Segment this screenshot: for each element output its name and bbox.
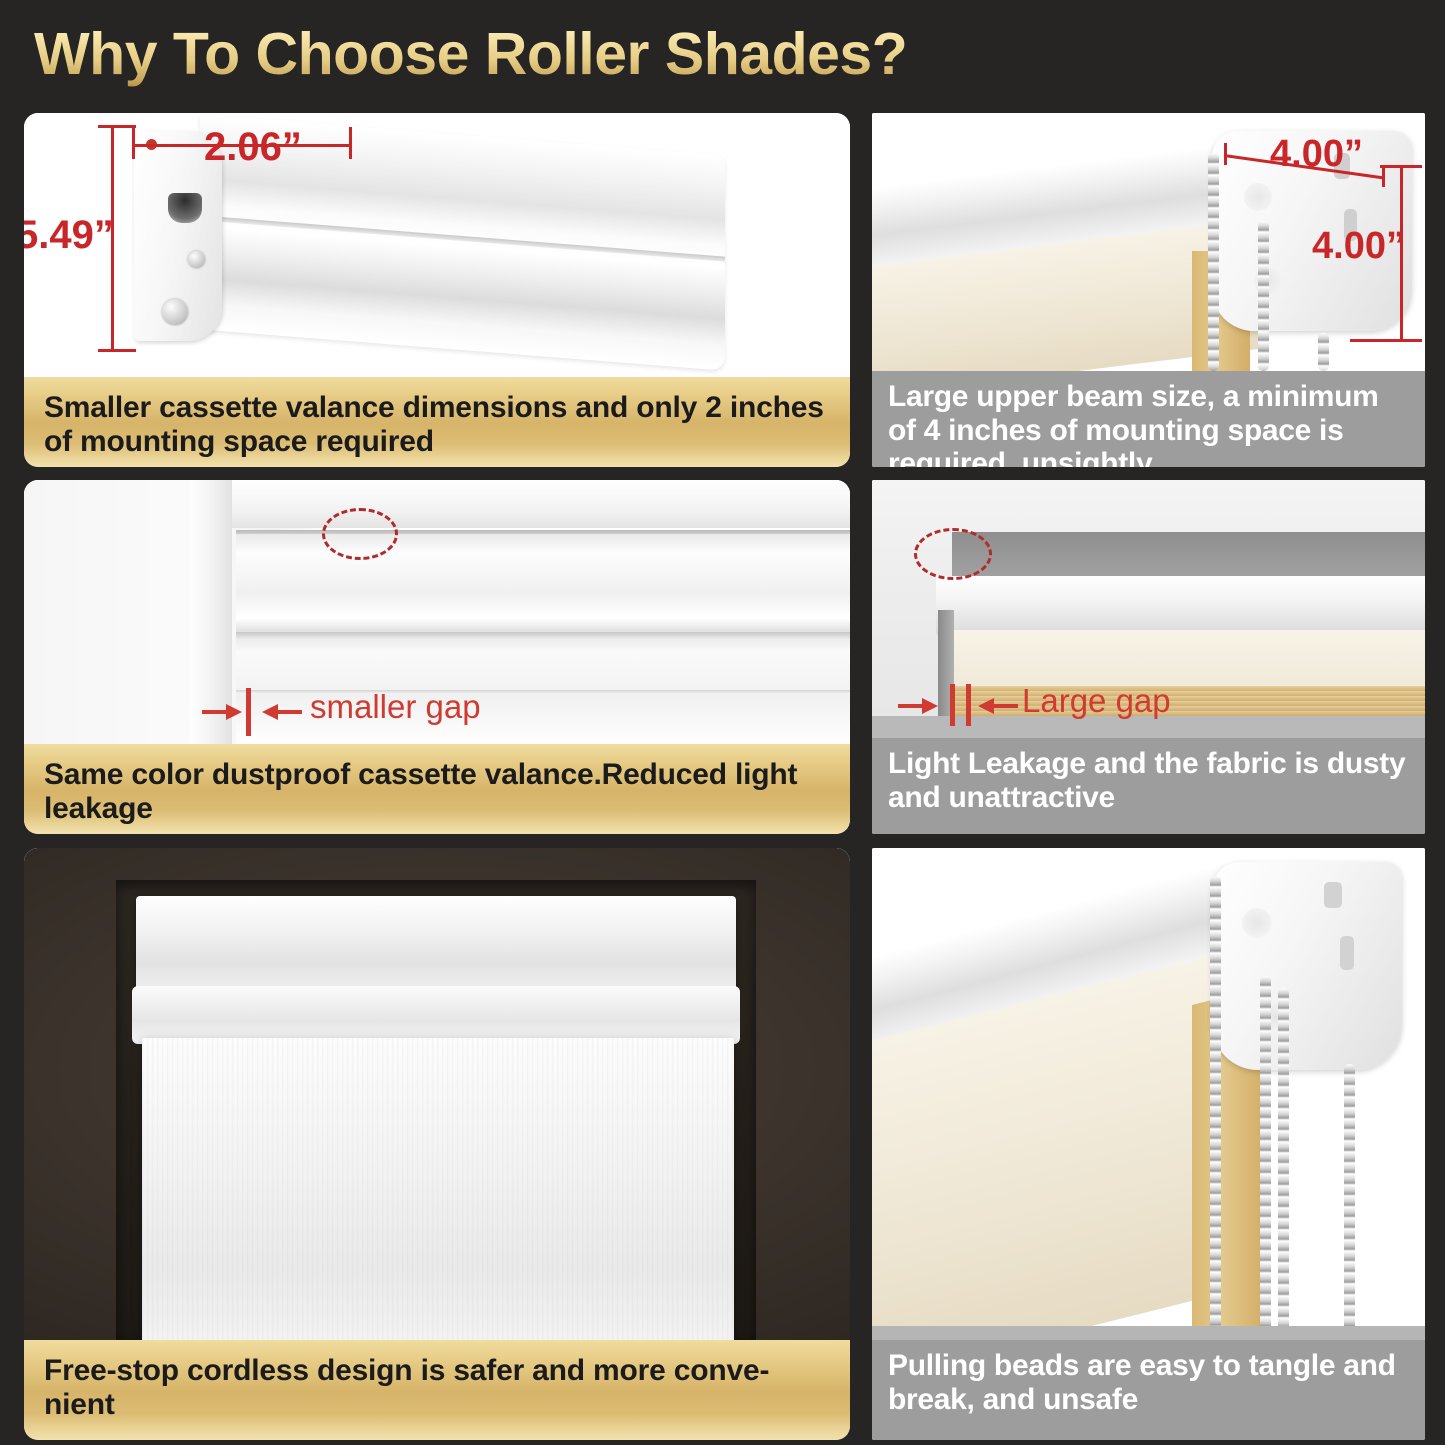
roller-tube [936, 576, 1425, 638]
panel-6-image [872, 848, 1425, 1340]
window-frame-top [190, 480, 850, 528]
panel-6-caption-bar: Pulling beads are easy to tangle and bre… [872, 1340, 1425, 1440]
bead-chain [1318, 333, 1329, 371]
gap-arrow-right-icon [260, 702, 302, 722]
panel-1-caption-bar: Smaller cassette valance dimensions and … [24, 377, 850, 467]
panel-pro-cassette-size: 2.06” 5.49” Smaller cassette valance dim… [24, 113, 850, 467]
panel-con-beam-size: 4.00” 4.00” Large upper beam size, a min… [872, 113, 1425, 467]
panel-4-caption-bar: Light Leakage and the fabric is dusty an… [872, 738, 1425, 834]
width-dimension-label: 2.06” [204, 125, 302, 170]
width-dimension-tick-right [349, 127, 352, 159]
large-gap-label: Large gap [1022, 682, 1171, 720]
bracket-keyhole-b [1340, 936, 1354, 970]
bead-chain [1210, 876, 1221, 1338]
roller-bracket [1212, 862, 1402, 1070]
infographic-root: Why To Choose Roller Shades? 2.06” [0, 0, 1445, 1445]
beam-width-tick-left [1224, 143, 1227, 165]
bead-chain [1260, 976, 1271, 1338]
panel-3-caption-text: Same color dustproof cassette valance.Re… [44, 758, 830, 825]
bracket-logo-icon [1242, 908, 1272, 938]
bead-chain [1258, 221, 1269, 371]
panel-2-image: 4.00” 4.00” [872, 113, 1425, 371]
height-dimension-label: 5.49” [24, 213, 114, 258]
screw-icon [188, 251, 205, 268]
beam-width-tick-right [1382, 165, 1385, 187]
bracket-logo-icon [1244, 183, 1272, 211]
panel-con-bead-chain: Pulling beads are easy to tangle and bre… [872, 848, 1425, 1440]
bead-chain [1278, 988, 1289, 1338]
beam-height-tick-top [1380, 165, 1422, 168]
panel-pro-cordless-design: Free-stop cordless design is safer and m… [24, 848, 850, 1440]
smaller-gap-label: smaller gap [310, 688, 481, 726]
gap-bar [966, 684, 971, 726]
beam-height-tick-bottom [1350, 339, 1422, 342]
shade-seam [236, 632, 850, 640]
screw-icon [162, 299, 188, 325]
valance-slot [168, 193, 202, 223]
panel-5-image [24, 848, 850, 1340]
panel-5-caption-text: Free-stop cordless design is safer and m… [44, 1354, 830, 1421]
bracket-keyhole-a [1324, 882, 1342, 908]
shade-fabric [142, 1038, 734, 1340]
width-dimension-tick-left [132, 125, 135, 159]
height-dimension-tick-bottom [98, 349, 136, 352]
cream-fabric-band [950, 630, 1425, 690]
panel-grid: 2.06” 5.49” Smaller cassette valance dim… [0, 108, 1445, 1445]
panel-con-light-leakage: Large gap Light Leakage and the fabric i… [872, 480, 1425, 834]
panel-pro-dustproof-valance: smaller gap Same color dustproof cassett… [24, 480, 850, 834]
panel-6-caption-text: Pulling beads are easy to tangle and bre… [888, 1349, 1411, 1416]
panel-2-caption-text: Large upper beam size, a minimum of 4 in… [888, 380, 1411, 467]
panel-1-image: 2.06” 5.49” [24, 113, 850, 377]
gap-arrow-left-icon [898, 696, 940, 716]
beam-height-label: 4.00” [1312, 225, 1405, 268]
cassette-front-rail [132, 986, 740, 1044]
panel-5-caption-bar: Free-stop cordless design is safer and m… [24, 1340, 850, 1440]
gap-arrow-right-icon [976, 696, 1018, 716]
header: Why To Choose Roller Shades? [0, 0, 1445, 108]
page-title: Why To Choose Roller Shades? [34, 20, 907, 88]
panel-4-image: Large gap [872, 480, 1425, 738]
detail-highlight-ellipse [914, 528, 992, 580]
height-dimension-tick-top [98, 125, 136, 128]
panel-4-caption-text: Light Leakage and the fabric is dusty an… [888, 747, 1411, 814]
floor-shadow [872, 1326, 1425, 1340]
beam-width-label: 4.00” [1270, 133, 1363, 176]
panel-1-caption-text: Smaller cassette valance dimensions and … [44, 391, 830, 458]
bead-chain [1208, 153, 1219, 371]
gap-arrow-left-icon [202, 702, 244, 722]
panel-3-image: smaller gap [24, 480, 850, 744]
panel-3-caption-bar: Same color dustproof cassette valance.Re… [24, 744, 850, 834]
panel-2-caption-bar: Large upper beam size, a minimum of 4 in… [872, 371, 1425, 467]
bead-chain [1344, 1064, 1355, 1338]
detail-highlight-ellipse [322, 508, 398, 560]
gap-bar [950, 684, 955, 726]
gap-bar [246, 688, 251, 736]
